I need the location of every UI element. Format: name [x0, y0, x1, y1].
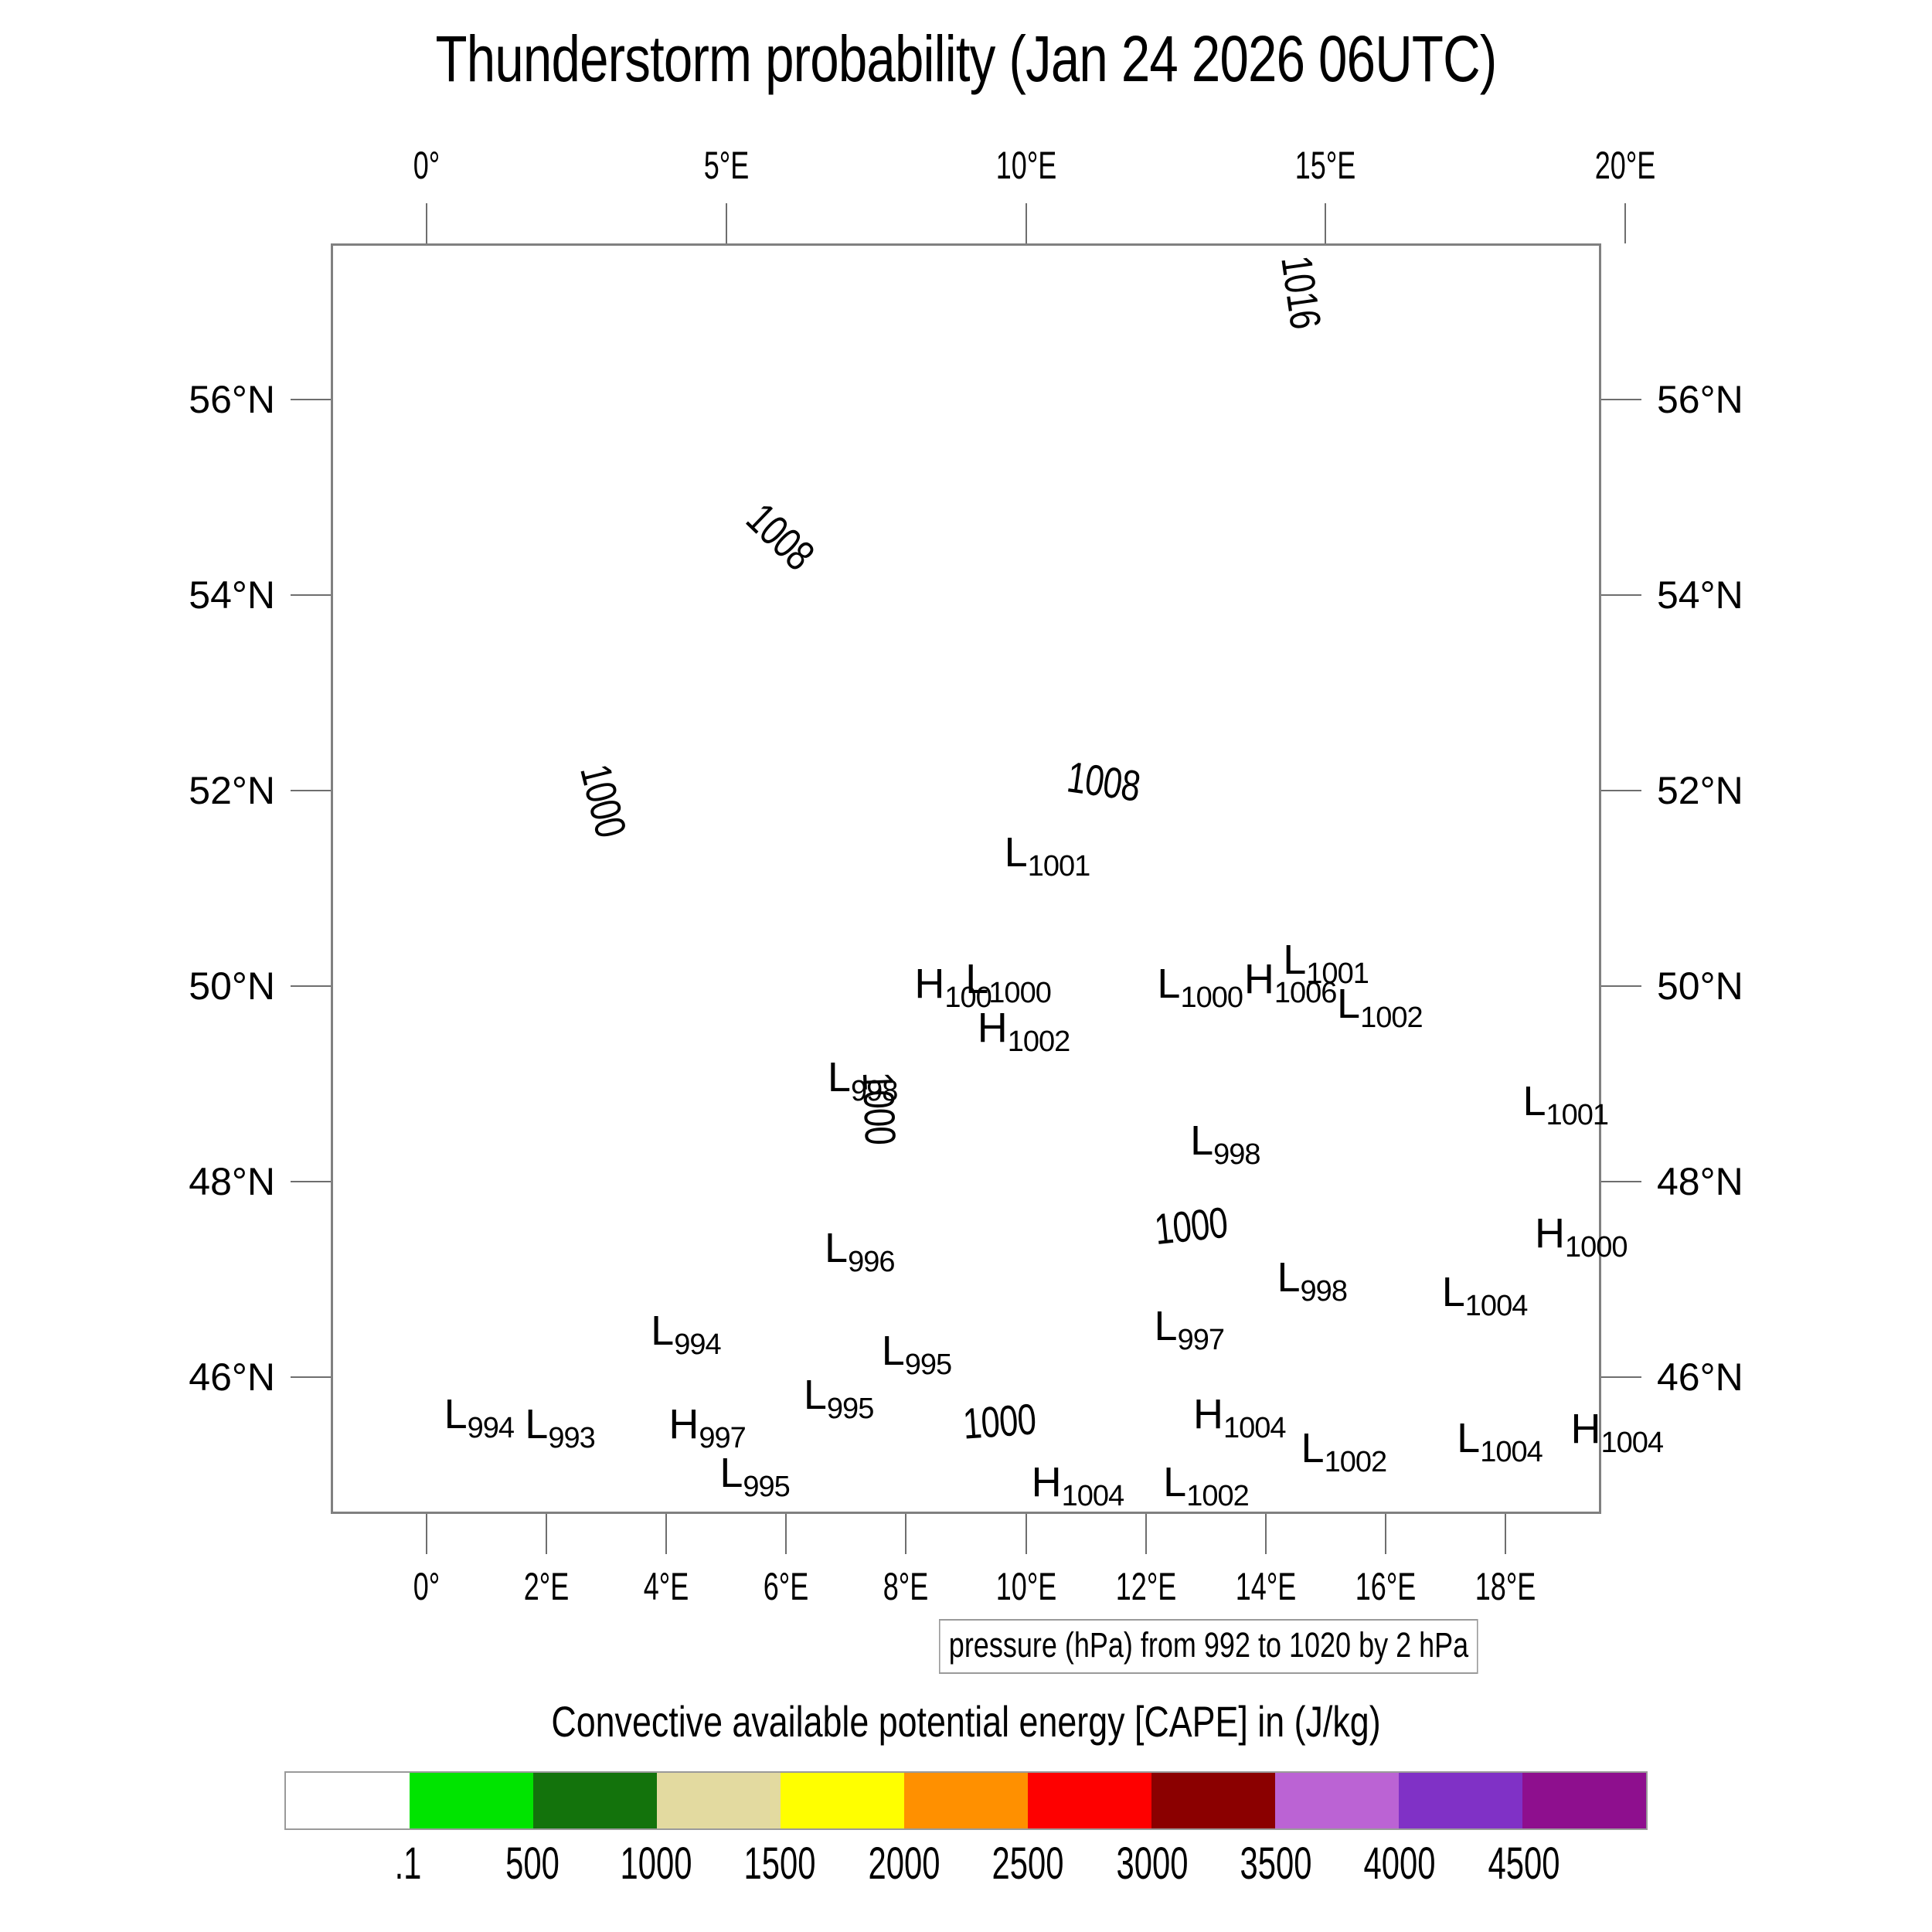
pressure-centre-value: 1004	[1223, 1412, 1286, 1444]
colorbar-cell[interactable]	[286, 1773, 410, 1828]
pressure-centre-label: L995	[719, 1449, 789, 1497]
lat-label-left: 46°N	[189, 1355, 275, 1400]
pressure-centre-value: 1004	[1600, 1427, 1663, 1459]
lat-label-right: 56°N	[1657, 377, 1743, 422]
pressure-centre-value: 1002	[1008, 1026, 1070, 1058]
pressure-centre-value: 998	[1301, 1275, 1347, 1308]
pressure-centre-kind: H	[1535, 1210, 1565, 1257]
pressure-centre-label: L995	[882, 1327, 951, 1375]
pressure-centre-label: L1001	[1522, 1077, 1608, 1125]
lon-tick-bottom	[665, 1514, 667, 1554]
lat-label-right: 50°N	[1657, 964, 1743, 1009]
pressure-centre-kind: L	[882, 1328, 905, 1374]
pressure-centre-label: H1002	[978, 1004, 1070, 1052]
lat-tick-left	[291, 790, 331, 791]
pressure-centre-value: 994	[468, 1412, 514, 1444]
pressure-centre-value: 1004	[1062, 1480, 1124, 1512]
colorbar-tick-labels: .150010001500200025003000350040004500	[284, 1838, 1648, 1896]
contour-inline-label: 1008	[1064, 751, 1143, 811]
pressure-centre-label: L994	[651, 1307, 720, 1355]
lat-tick-right	[1601, 790, 1641, 791]
pressure-centre-label: H1004	[1193, 1390, 1286, 1438]
pressure-centre-kind: H	[1570, 1406, 1600, 1452]
lon-label-top: 10°E	[995, 143, 1056, 188]
pressure-centre-value: 1001	[1028, 850, 1090, 883]
lat-tick-right	[1601, 985, 1641, 987]
lat-label-left: 52°N	[189, 768, 275, 813]
lon-label-bottom: 2°E	[524, 1564, 569, 1609]
pressure-centre-kind: L	[825, 1225, 848, 1271]
pressure-centre-label: H1006	[1244, 955, 1337, 1003]
page-title: Thunderstorm probability (Jan 24 2026 06…	[193, 22, 1739, 96]
lon-label-top: 0°	[413, 143, 440, 188]
lat-label-right: 48°N	[1657, 1159, 1743, 1204]
pressure-centre-value: 993	[548, 1422, 594, 1454]
pressure-centre-kind: L	[444, 1391, 468, 1437]
pressure-centre-value: 994	[674, 1328, 720, 1361]
contour-inline-label: 1000	[1152, 1197, 1230, 1254]
pressure-centre-kind: H	[1032, 1459, 1062, 1505]
lon-tick-bottom	[426, 1514, 427, 1554]
pressure-centre-kind: L	[719, 1450, 743, 1496]
lon-label-top: 5°E	[704, 143, 749, 188]
pressure-centre-value: 995	[905, 1349, 951, 1381]
pressure-centre-value: 1004	[1480, 1436, 1543, 1468]
colorbar-tick-label: 4500	[1488, 1838, 1560, 1889]
colorbar-cell[interactable]	[1522, 1773, 1646, 1828]
pressure-centre-kind: H	[1193, 1391, 1223, 1437]
pressure-centre-kind: L	[1190, 1117, 1213, 1164]
pressure-centre-label: L1004	[1442, 1268, 1528, 1316]
lat-label-left: 56°N	[189, 377, 275, 422]
pressure-centre-kind: L	[1157, 961, 1180, 1007]
lat-tick-left	[291, 594, 331, 596]
pressure-centre-kind: H	[978, 1005, 1008, 1051]
pressure-centre-label: L996	[825, 1224, 894, 1272]
lat-tick-left	[291, 1181, 331, 1182]
lat-tick-right	[1601, 399, 1641, 400]
pressure-centre-label: L1000	[965, 955, 1051, 1003]
lon-tick-top	[1325, 203, 1326, 243]
pressure-centre-value: 998	[1213, 1138, 1260, 1171]
pressure-centre-kind: L	[525, 1401, 548, 1447]
pressure-centre-label: L1001	[1005, 828, 1090, 876]
colorbar-tick-label: 3500	[1240, 1838, 1311, 1889]
lat-tick-right	[1601, 594, 1641, 596]
pressure-centre-value: 1001	[1546, 1099, 1608, 1131]
pressure-centre-value: 996	[848, 1246, 894, 1278]
pressure-centre-kind: L	[1301, 1425, 1325, 1471]
pressure-centre-label: H997	[668, 1400, 745, 1448]
pressure-centre-label: L998	[1190, 1117, 1260, 1165]
pressure-centre-value: 1006	[1274, 977, 1337, 1009]
pressure-centre-label: L1000	[1157, 960, 1243, 1008]
pressure-centre-kind: L	[1522, 1078, 1546, 1124]
pressure-centre-kind: L	[1442, 1269, 1465, 1315]
colorbar-tick-label: 1000	[621, 1838, 692, 1889]
pressure-centre-label: L1002	[1337, 980, 1423, 1028]
pressure-centre-value: 1002	[1325, 1446, 1387, 1478]
lon-label-bottom: 12°E	[1115, 1564, 1175, 1609]
colorbar-cell[interactable]	[1399, 1773, 1522, 1828]
colorbar-title: Convective available potential energy [C…	[193, 1696, 1739, 1747]
lon-label-bottom: 16°E	[1355, 1564, 1416, 1609]
pressure-centre-label: L1002	[1301, 1424, 1387, 1472]
pressure-centre-kind: L	[828, 1054, 851, 1100]
pressure-centre-value: 1004	[1465, 1290, 1528, 1322]
lat-label-right: 46°N	[1657, 1355, 1743, 1400]
colorbar-cell[interactable]	[410, 1773, 533, 1828]
pressure-centre-label: L997	[1155, 1302, 1224, 1350]
lat-tick-right	[1601, 1181, 1641, 1182]
lon-tick-bottom	[1385, 1514, 1386, 1554]
colorbar-tick-label: 2500	[992, 1838, 1064, 1889]
lon-label-bottom: 6°E	[764, 1564, 808, 1609]
map-frame	[331, 243, 1601, 1514]
contour-inline-label: 1000	[852, 1071, 905, 1145]
pressure-centre-kind: H	[1244, 956, 1274, 1002]
pressure-caption: pressure (hPa) from 992 to 1020 by 2 hPa	[939, 1619, 1478, 1674]
pressure-centre-kind: H	[668, 1401, 699, 1447]
pressure-centre-label: L995	[804, 1371, 873, 1419]
pressure-centre-kind: L	[1155, 1303, 1178, 1349]
lon-tick-bottom	[785, 1514, 787, 1554]
pressure-centre-value: 1000	[1180, 981, 1243, 1014]
lon-tick-bottom	[905, 1514, 906, 1554]
colorbar-cell[interactable]	[904, 1773, 1028, 1828]
lon-tick-bottom	[1145, 1514, 1147, 1554]
lon-tick-bottom	[1265, 1514, 1267, 1554]
pressure-centre-kind: H	[914, 961, 944, 1007]
chart-canvas: Thunderstorm probability (Jan 24 2026 06…	[0, 0, 1932, 1932]
pressure-centre-label: H1000	[1535, 1209, 1628, 1257]
contour-inline-label: 1000	[961, 1393, 1036, 1448]
lon-label-bottom: 18°E	[1475, 1564, 1536, 1609]
pressure-centre-label: H1004	[1032, 1458, 1124, 1506]
colorbar-cell[interactable]	[1275, 1773, 1399, 1828]
colorbar-tick-label: .1	[395, 1838, 422, 1889]
colorbar-tick-label: 2000	[868, 1838, 940, 1889]
lon-label-top: 15°E	[1295, 143, 1355, 188]
lon-label-top: 20°E	[1595, 143, 1655, 188]
pressure-centre-label: L993	[525, 1400, 594, 1448]
lat-label-right: 54°N	[1657, 573, 1743, 617]
lat-tick-left	[291, 985, 331, 987]
lat-label-left: 48°N	[189, 1159, 275, 1204]
lon-label-bottom: 0°	[413, 1564, 440, 1609]
lon-tick-bottom	[546, 1514, 547, 1554]
colorbar-tick-label: 4000	[1364, 1838, 1436, 1889]
pressure-centre-kind: L	[1163, 1459, 1186, 1505]
lon-tick-bottom	[1505, 1514, 1506, 1554]
lon-label-bottom: 4°E	[644, 1564, 689, 1609]
pressure-centre-value: 995	[743, 1471, 789, 1503]
colorbar-tick-label: 500	[505, 1838, 560, 1889]
pressure-centre-label: L994	[444, 1390, 514, 1438]
colorbar-cell[interactable]	[1028, 1773, 1151, 1828]
pressure-centre-kind: L	[1337, 981, 1360, 1027]
pressure-centre-label: L998	[1277, 1253, 1347, 1301]
colorbar-tick-label: 3000	[1116, 1838, 1188, 1889]
colorbar-cell[interactable]	[657, 1773, 781, 1828]
pressure-centre-kind: L	[1457, 1415, 1480, 1461]
lon-label-bottom: 10°E	[995, 1564, 1056, 1609]
pressure-centre-value: 997	[1178, 1324, 1224, 1356]
lat-label-left: 54°N	[189, 573, 275, 617]
colorbar-tick-label: 1500	[744, 1838, 816, 1889]
contour-inline-label: 1016	[1272, 253, 1332, 332]
lat-label-right: 52°N	[1657, 768, 1743, 813]
lat-tick-left	[291, 1376, 331, 1378]
colorbar-cell[interactable]	[781, 1773, 904, 1828]
lon-tick-top	[726, 203, 727, 243]
pressure-centre-label: H1004	[1570, 1405, 1663, 1453]
colorbar-cell[interactable]	[1151, 1773, 1275, 1828]
lat-tick-left	[291, 399, 331, 400]
colorbar[interactable]	[284, 1771, 1648, 1830]
lon-tick-top	[1026, 203, 1027, 243]
lon-tick-top	[1624, 203, 1626, 243]
pressure-centre-kind: L	[965, 956, 988, 1002]
pressure-centre-kind: L	[651, 1308, 674, 1354]
lat-label-left: 50°N	[189, 964, 275, 1009]
colorbar-cell[interactable]	[533, 1773, 657, 1828]
lon-label-bottom: 8°E	[883, 1564, 928, 1609]
pressure-centre-value: 995	[827, 1393, 873, 1425]
pressure-centre-value: 1002	[1186, 1480, 1249, 1512]
pressure-centre-value: 1002	[1360, 1002, 1423, 1034]
lon-label-bottom: 14°E	[1236, 1564, 1296, 1609]
lon-tick-bottom	[1026, 1514, 1027, 1554]
pressure-centre-kind: L	[804, 1372, 827, 1418]
lat-tick-right	[1601, 1376, 1641, 1378]
pressure-centre-label: L1002	[1163, 1458, 1249, 1506]
lon-tick-top	[426, 203, 427, 243]
pressure-centre-kind: L	[1005, 829, 1028, 876]
pressure-centre-value: 1000	[1565, 1231, 1628, 1264]
pressure-centre-label: L1004	[1457, 1414, 1543, 1462]
pressure-centre-kind: L	[1277, 1254, 1301, 1301]
map-panel	[331, 243, 1601, 1514]
